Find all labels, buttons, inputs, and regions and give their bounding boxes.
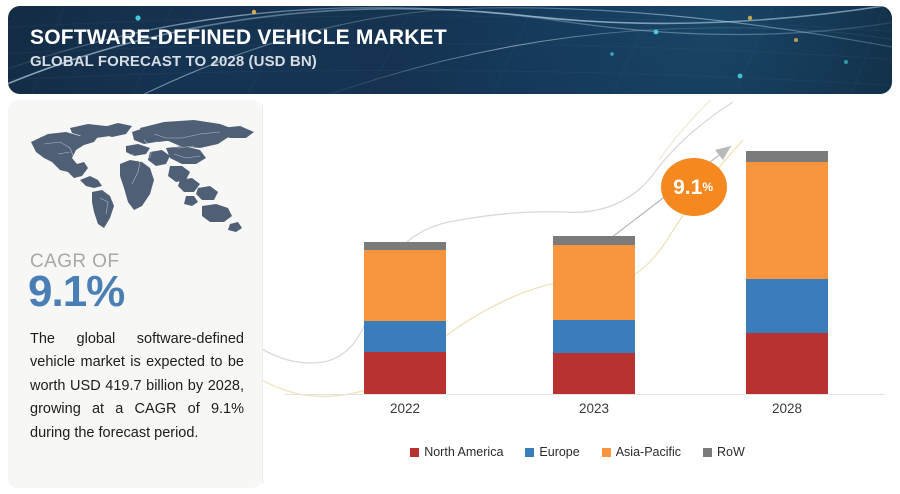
page-subtitle: GLOBAL FORECAST TO 2028 (USD BN) <box>30 53 447 71</box>
segment-asia-pacific-2023[interactable] <box>553 245 635 320</box>
summary-panel: CAGR OF 9.1% The global software-defined… <box>8 100 262 488</box>
legend-swatch-europe <box>525 448 534 457</box>
legend-swatch-asia-pacific <box>602 448 611 457</box>
header-text-block: SOFTWARE-DEFINED VEHICLE MARKET GLOBAL F… <box>30 26 447 71</box>
legend-label-europe: Europe <box>539 445 579 459</box>
x-label-2023: 2023 <box>524 401 664 416</box>
world-map-graphic <box>14 114 258 244</box>
cagr-badge: 9.1 % <box>661 158 727 216</box>
legend-swatch-north-america <box>410 448 419 457</box>
segment-europe-2023[interactable] <box>553 320 635 353</box>
content-area: CAGR OF 9.1% The global software-defined… <box>8 100 892 488</box>
segment-row-2022[interactable] <box>364 242 446 250</box>
x-label-2028: 2028 <box>717 401 857 416</box>
bar-2028[interactable] <box>746 151 828 394</box>
infographic-page: SOFTWARE-DEFINED VEHICLE MARKET GLOBAL F… <box>0 0 900 494</box>
stacked-bar-chart: 9.1 % 2022 2023 <box>263 100 892 488</box>
x-axis-line <box>285 394 885 395</box>
segment-north-america-2028[interactable] <box>746 333 828 394</box>
cagr-badge-number: 9.1 <box>671 177 702 198</box>
bar-2023[interactable] <box>553 236 635 394</box>
bar-2022[interactable] <box>364 242 446 394</box>
x-label-2022: 2022 <box>335 401 475 416</box>
page-title: SOFTWARE-DEFINED VEHICLE MARKET <box>30 26 447 50</box>
header-banner: SOFTWARE-DEFINED VEHICLE MARKET GLOBAL F… <box>8 6 892 94</box>
cagr-badge-percent: % <box>702 181 727 194</box>
segment-asia-pacific-2028[interactable] <box>746 162 828 279</box>
legend-label-north-america: North America <box>424 445 503 459</box>
segment-row-2028[interactable] <box>746 151 828 162</box>
segment-europe-2028[interactable] <box>746 279 828 333</box>
cagr-value: 9.1% <box>28 270 124 314</box>
legend-label-row: RoW <box>717 445 745 459</box>
segment-europe-2022[interactable] <box>364 321 446 352</box>
segment-asia-pacific-2022[interactable] <box>364 250 446 321</box>
market-description: The global software-defined vehicle mark… <box>30 328 244 445</box>
legend-label-asia-pacific: Asia-Pacific <box>616 445 681 459</box>
legend-swatch-row <box>703 448 712 457</box>
legend-item-europe[interactable]: Europe <box>525 445 579 459</box>
segment-row-2023[interactable] <box>553 236 635 245</box>
chart-legend: North America Europe Asia-Pacific RoW <box>263 445 892 459</box>
segment-north-america-2022[interactable] <box>364 352 446 394</box>
legend-item-asia-pacific[interactable]: Asia-Pacific <box>602 445 681 459</box>
legend-item-north-america[interactable]: North America <box>410 445 503 459</box>
legend-item-row[interactable]: RoW <box>703 445 745 459</box>
world-map-icon <box>14 114 258 244</box>
segment-north-america-2023[interactable] <box>553 353 635 394</box>
